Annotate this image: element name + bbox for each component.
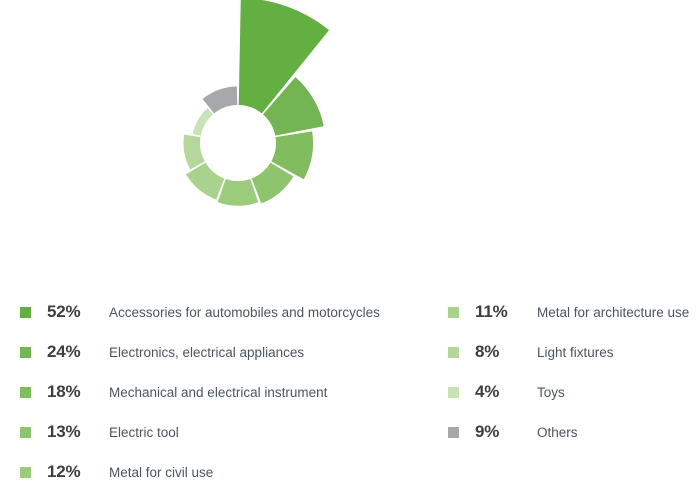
legend-item[interactable]: 11%Metal for architecture use: [448, 292, 698, 332]
legend-percent: 18%: [47, 382, 109, 402]
legend-swatch: [448, 427, 459, 438]
legend-label: Metal for architecture use: [537, 305, 689, 320]
legend-item[interactable]: 24%Electronics, electrical appliances: [20, 332, 440, 372]
legend-item[interactable]: 8%Light fixtures: [448, 332, 698, 372]
chart-legend: 52%Accessories for automobiles and motor…: [0, 292, 698, 478]
legend-swatch: [20, 467, 31, 478]
legend-item[interactable]: 9%Others: [448, 412, 698, 452]
legend-label: Metal for civil use: [109, 465, 213, 480]
legend-swatch: [20, 347, 31, 358]
legend-label: Mechanical and electrical instrument: [109, 385, 327, 400]
legend-column-left: 52%Accessories for automobiles and motor…: [20, 292, 440, 492]
legend-item[interactable]: 4%Toys: [448, 372, 698, 412]
legend-swatch: [20, 307, 31, 318]
legend-item[interactable]: 18%Mechanical and electrical instrument: [20, 372, 440, 412]
rose-chart-area: [60, 0, 440, 290]
legend-swatch: [448, 347, 459, 358]
legend-percent: 9%: [475, 422, 537, 442]
legend-item[interactable]: 13%Electric tool: [20, 412, 440, 452]
rose-chart-svg: [60, 0, 440, 290]
legend-label: Accessories for automobiles and motorcyc…: [109, 305, 380, 320]
legend-percent: 13%: [47, 422, 109, 442]
legend-item[interactable]: 12%Metal for civil use: [20, 452, 440, 492]
rose-slice[interactable]: [218, 179, 259, 206]
legend-swatch: [20, 427, 31, 438]
legend-swatch: [448, 307, 459, 318]
rose-slice-group: [184, 0, 330, 206]
legend-swatch: [20, 387, 31, 398]
legend-percent: 52%: [47, 302, 109, 322]
rose-slice[interactable]: [193, 108, 213, 136]
legend-swatch: [448, 387, 459, 398]
legend-percent: 8%: [475, 342, 537, 362]
legend-label: Light fixtures: [537, 345, 614, 360]
legend-percent: 24%: [47, 342, 109, 362]
rose-slice[interactable]: [184, 135, 205, 170]
legend-item[interactable]: 52%Accessories for automobiles and motor…: [20, 292, 440, 332]
legend-label: Electric tool: [109, 425, 179, 440]
legend-percent: 12%: [47, 462, 109, 482]
rose-chart-figure: 52%Accessories for automobiles and motor…: [0, 0, 698, 478]
legend-label: Toys: [537, 385, 565, 400]
legend-label: Others: [537, 425, 578, 440]
legend-percent: 11%: [475, 302, 537, 322]
legend-column-right: 11%Metal for architecture use8%Light fix…: [448, 292, 698, 452]
legend-percent: 4%: [475, 382, 537, 402]
legend-label: Electronics, electrical appliances: [109, 345, 304, 360]
